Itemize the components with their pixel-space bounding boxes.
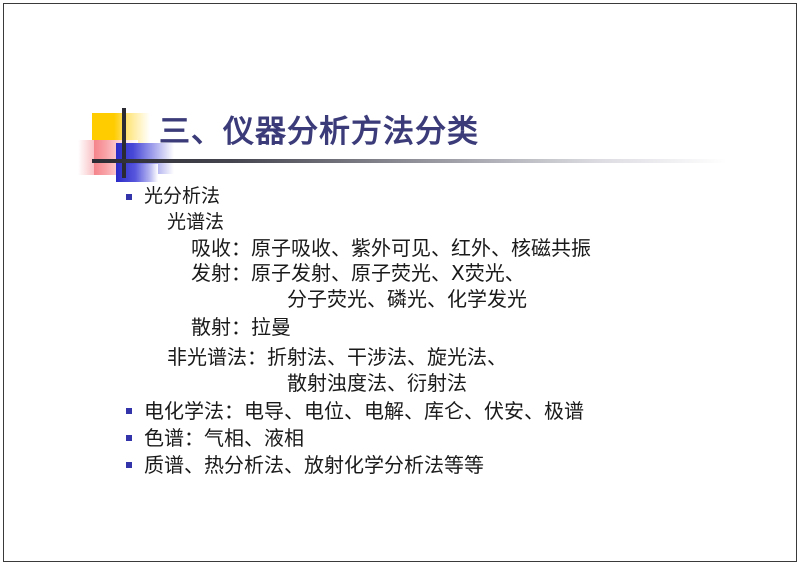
outline-line: 色谱：气相、液相 [144, 428, 304, 448]
list-bullet-marker [126, 435, 132, 441]
outline-line: 发射：原子发射、原子荧光、X荧光、 [191, 263, 525, 283]
outline-line: 散射：拉曼 [191, 317, 291, 337]
outline-line: 光谱法 [167, 213, 224, 232]
slide-canvas: 三、仪器分析方法分类 光分析法光谱法吸收：原子吸收、紫外可见、红外、核磁共振发射… [3, 3, 797, 562]
list-bullet-marker [126, 408, 132, 414]
outline-line: 电化学法：电导、电位、电解、库仑、伏安、极谱 [144, 401, 584, 421]
slide-body: 光分析法光谱法吸收：原子吸收、紫外可见、红外、核磁共振发射：原子发射、原子荧光、… [4, 4, 797, 562]
outline-line: 散射浊度法、衍射法 [287, 373, 467, 393]
list-bullet-marker [126, 194, 132, 200]
outline-line: 光分析法 [144, 187, 220, 206]
outline-line: 质谱、热分析法、放射化学分析法等等 [144, 455, 484, 475]
outline-line: 非光谱法：折射法、干涉法、旋光法、 [167, 347, 507, 367]
list-bullet-marker [126, 462, 132, 468]
outline-line: 吸收：原子吸收、紫外可见、红外、核磁共振 [191, 238, 591, 258]
outline-line: 分子荧光、磷光、化学发光 [287, 289, 527, 309]
